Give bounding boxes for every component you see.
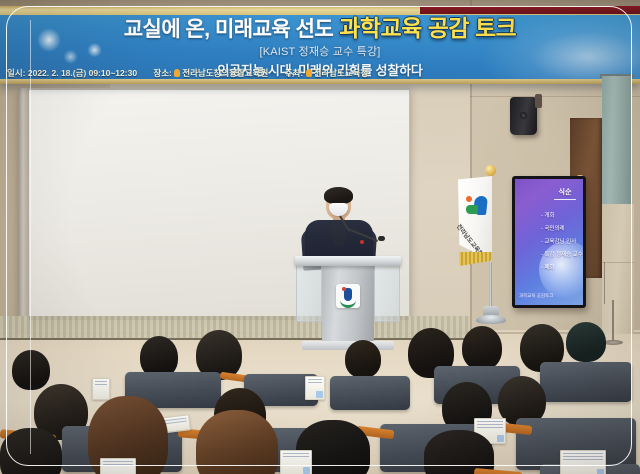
banner-title-row: 교실에 온, 미래교육 선도과학교육 공감 토크	[0, 16, 640, 41]
signage-list-item: - 교육감님 인사	[541, 237, 583, 245]
podium-glass-left	[296, 264, 322, 322]
name-card-badge	[597, 469, 604, 474]
audience-head-foreground	[424, 430, 494, 474]
right-lower-panel	[602, 204, 634, 334]
banner-meta-date: 일시: 2022. 2. 18.(금) 09:10~12:30	[7, 68, 137, 78]
banner-meta-place-value: 전라남도창의융합교육원	[182, 68, 268, 78]
signage-list-item: - 개회	[541, 211, 583, 219]
audience-head	[462, 326, 502, 370]
name-card-badge	[497, 435, 504, 442]
digital-signage[interactable]: SCIENCE 식순 - 개회 - 국민의례 - 교육감님 인사 - 특강 정재…	[512, 176, 586, 308]
seat-back-row	[540, 362, 632, 402]
screenshot-root: 교실에 온, 미래교육 선도과학교육 공감 토크 [KAIST 정재승 교수 특…	[0, 0, 640, 474]
flag-finial-icon	[485, 165, 496, 176]
banner-meta-host: 주최: 전라남도교육청	[285, 68, 369, 78]
podium-emblem-dot	[342, 287, 346, 291]
seat-name-card	[280, 450, 312, 474]
name-card-line	[283, 456, 309, 457]
name-card-line	[95, 384, 107, 385]
audience-head	[345, 340, 381, 378]
seat-armrest	[474, 468, 523, 474]
name-card-line	[308, 379, 322, 380]
name-card-line	[103, 461, 133, 462]
name-card-line	[563, 459, 603, 460]
signage-heading-underline	[554, 199, 576, 200]
name-card-line	[308, 382, 322, 383]
microphone-head-icon	[378, 236, 385, 241]
right-panel-seam	[602, 262, 634, 263]
podium-glass-right	[374, 264, 400, 322]
signage-list-item: - 특강 정재승 교수	[541, 250, 583, 258]
name-card-line	[95, 381, 107, 382]
name-card-badge	[316, 391, 323, 398]
name-card-line	[477, 424, 503, 425]
speaker-cone-icon	[520, 112, 527, 119]
projection-screen-post	[18, 88, 29, 332]
signage-header: 식순	[545, 187, 583, 205]
event-banner: 교실에 온, 미래교육 선도과학교육 공감 토크 [KAIST 정재승 교수 특…	[0, 6, 640, 84]
banner-title-primary: 교실에 온, 미래교육 선도	[124, 18, 334, 41]
signage-list-item: - 폐회	[541, 263, 583, 271]
flag-stand-base	[476, 315, 506, 324]
signage-program-list: - 개회 - 국민의례 - 교육감님 인사 - 특강 정재승 교수 - 폐회	[541, 211, 583, 276]
flag-logo-green-shape	[466, 205, 478, 214]
speaker-bracket	[535, 94, 542, 108]
flag-logo-orange-dot	[466, 196, 472, 202]
seat-name-card	[305, 376, 325, 400]
banner-title-highlight: 과학교육 공감 토크	[339, 15, 516, 41]
banner-meta-date-label: 일시:	[7, 68, 25, 78]
mic-cable	[604, 262, 605, 304]
banner-meta-place-label: 장소:	[153, 68, 171, 78]
speaker-hair	[324, 187, 353, 204]
name-card-line	[563, 456, 603, 457]
location-pin-icon	[174, 69, 180, 77]
seat-back-row	[330, 376, 410, 410]
seat-name-card	[92, 378, 110, 400]
right-curtain	[602, 76, 632, 204]
banner-meta-date-value: 2022. 2. 18.(금) 09:10~12:30	[28, 68, 137, 78]
audience-area	[0, 332, 640, 474]
name-card-line	[103, 464, 133, 465]
signage-heading: 식순	[545, 187, 583, 197]
banner-subtitle-bracket: [KAIST 정재승 교수 특강]	[0, 43, 640, 59]
signage-list-item: - 국민의례	[541, 224, 583, 232]
name-card-line	[283, 453, 309, 454]
name-card-line	[563, 453, 603, 454]
podium-top	[295, 256, 401, 266]
banner-maroon-trim	[420, 6, 640, 14]
seat-name-card	[560, 450, 606, 474]
name-card-line	[477, 421, 503, 422]
audience-head	[566, 322, 606, 362]
audience-head	[12, 350, 50, 390]
signage-screen: SCIENCE 식순 - 개회 - 국민의례 - 교육감님 인사 - 특강 정재…	[515, 179, 583, 305]
name-card-badge	[303, 467, 310, 474]
host-pin-icon	[306, 69, 312, 77]
seat-name-card	[100, 458, 136, 474]
audience-head-foreground	[0, 428, 62, 474]
banner-meta-place: 장소: 전라남도창의융합교육원	[153, 68, 268, 78]
signage-footer: 과학교육 공감토크	[519, 293, 563, 300]
banner-meta-row: 일시: 2022. 2. 18.(금) 09:10~12:30 장소: 전라남도…	[0, 67, 640, 79]
lapel-pin-icon	[360, 240, 364, 244]
name-card-line	[163, 421, 187, 425]
audience-head-foreground	[196, 410, 278, 474]
name-card-line	[477, 427, 503, 428]
banner-meta-host-label: 주최:	[285, 68, 303, 78]
banner-meta-host-value: 전라남도교육청	[314, 68, 369, 78]
